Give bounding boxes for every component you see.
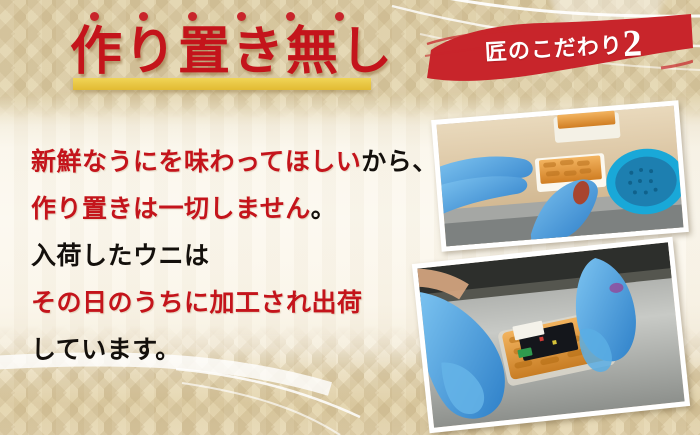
- copy-line-plain: 入荷したウニは: [31, 243, 210, 270]
- copy-line-highlight: 作り置きは一切しません: [31, 197, 311, 222]
- copy-line-plain: 。: [311, 196, 337, 223]
- body-copy: 新鮮なうにを味わってほしいから、 作り置きは一切しません。 入荷したウニは その…: [31, 150, 423, 385]
- copy-line-plain: から、: [361, 149, 438, 176]
- copy-line-plain: しています。: [31, 337, 181, 364]
- badge-number: 2: [622, 22, 644, 65]
- copy-line: しています。: [31, 338, 423, 363]
- promo-banner: 作り置き無し 匠のこだわり2 新鮮なうにを味わってほしいから、 作り置きは一切し…: [0, 0, 700, 435]
- title-block: 作り置き無し: [70, 12, 390, 104]
- copy-line-highlight: その日のうちに加工され出荷: [31, 291, 363, 316]
- copy-line-highlight: 新鮮なうにを味わってほしい: [31, 150, 361, 175]
- copy-line: 入荷したウニは: [31, 244, 423, 269]
- copy-line: その日のうちに加工され出荷: [31, 291, 423, 316]
- photo-uni-plating-image: [436, 106, 683, 247]
- photo-uni-plating-art: [436, 106, 683, 247]
- emphasis-dot: [139, 12, 148, 21]
- photo-uni-plating: [431, 100, 689, 251]
- copy-line: 新鮮なうにを味わってほしいから、: [31, 150, 423, 175]
- page-title: 作り置き無し: [70, 24, 394, 82]
- photo-uni-packing: [412, 237, 690, 433]
- photo-uni-packing-art: [417, 242, 684, 427]
- emphasis-dot: [335, 12, 344, 21]
- emphasis-dot: [286, 12, 295, 21]
- emphasis-dot: [237, 12, 246, 21]
- emphasis-dots: [90, 12, 344, 21]
- badge-banner: 匠のこだわり2: [425, 14, 693, 86]
- copy-line: 作り置きは一切しません。: [31, 197, 423, 222]
- emphasis-dot: [90, 12, 99, 21]
- emphasis-dot: [188, 12, 197, 21]
- photo-uni-packing-image: [417, 242, 684, 427]
